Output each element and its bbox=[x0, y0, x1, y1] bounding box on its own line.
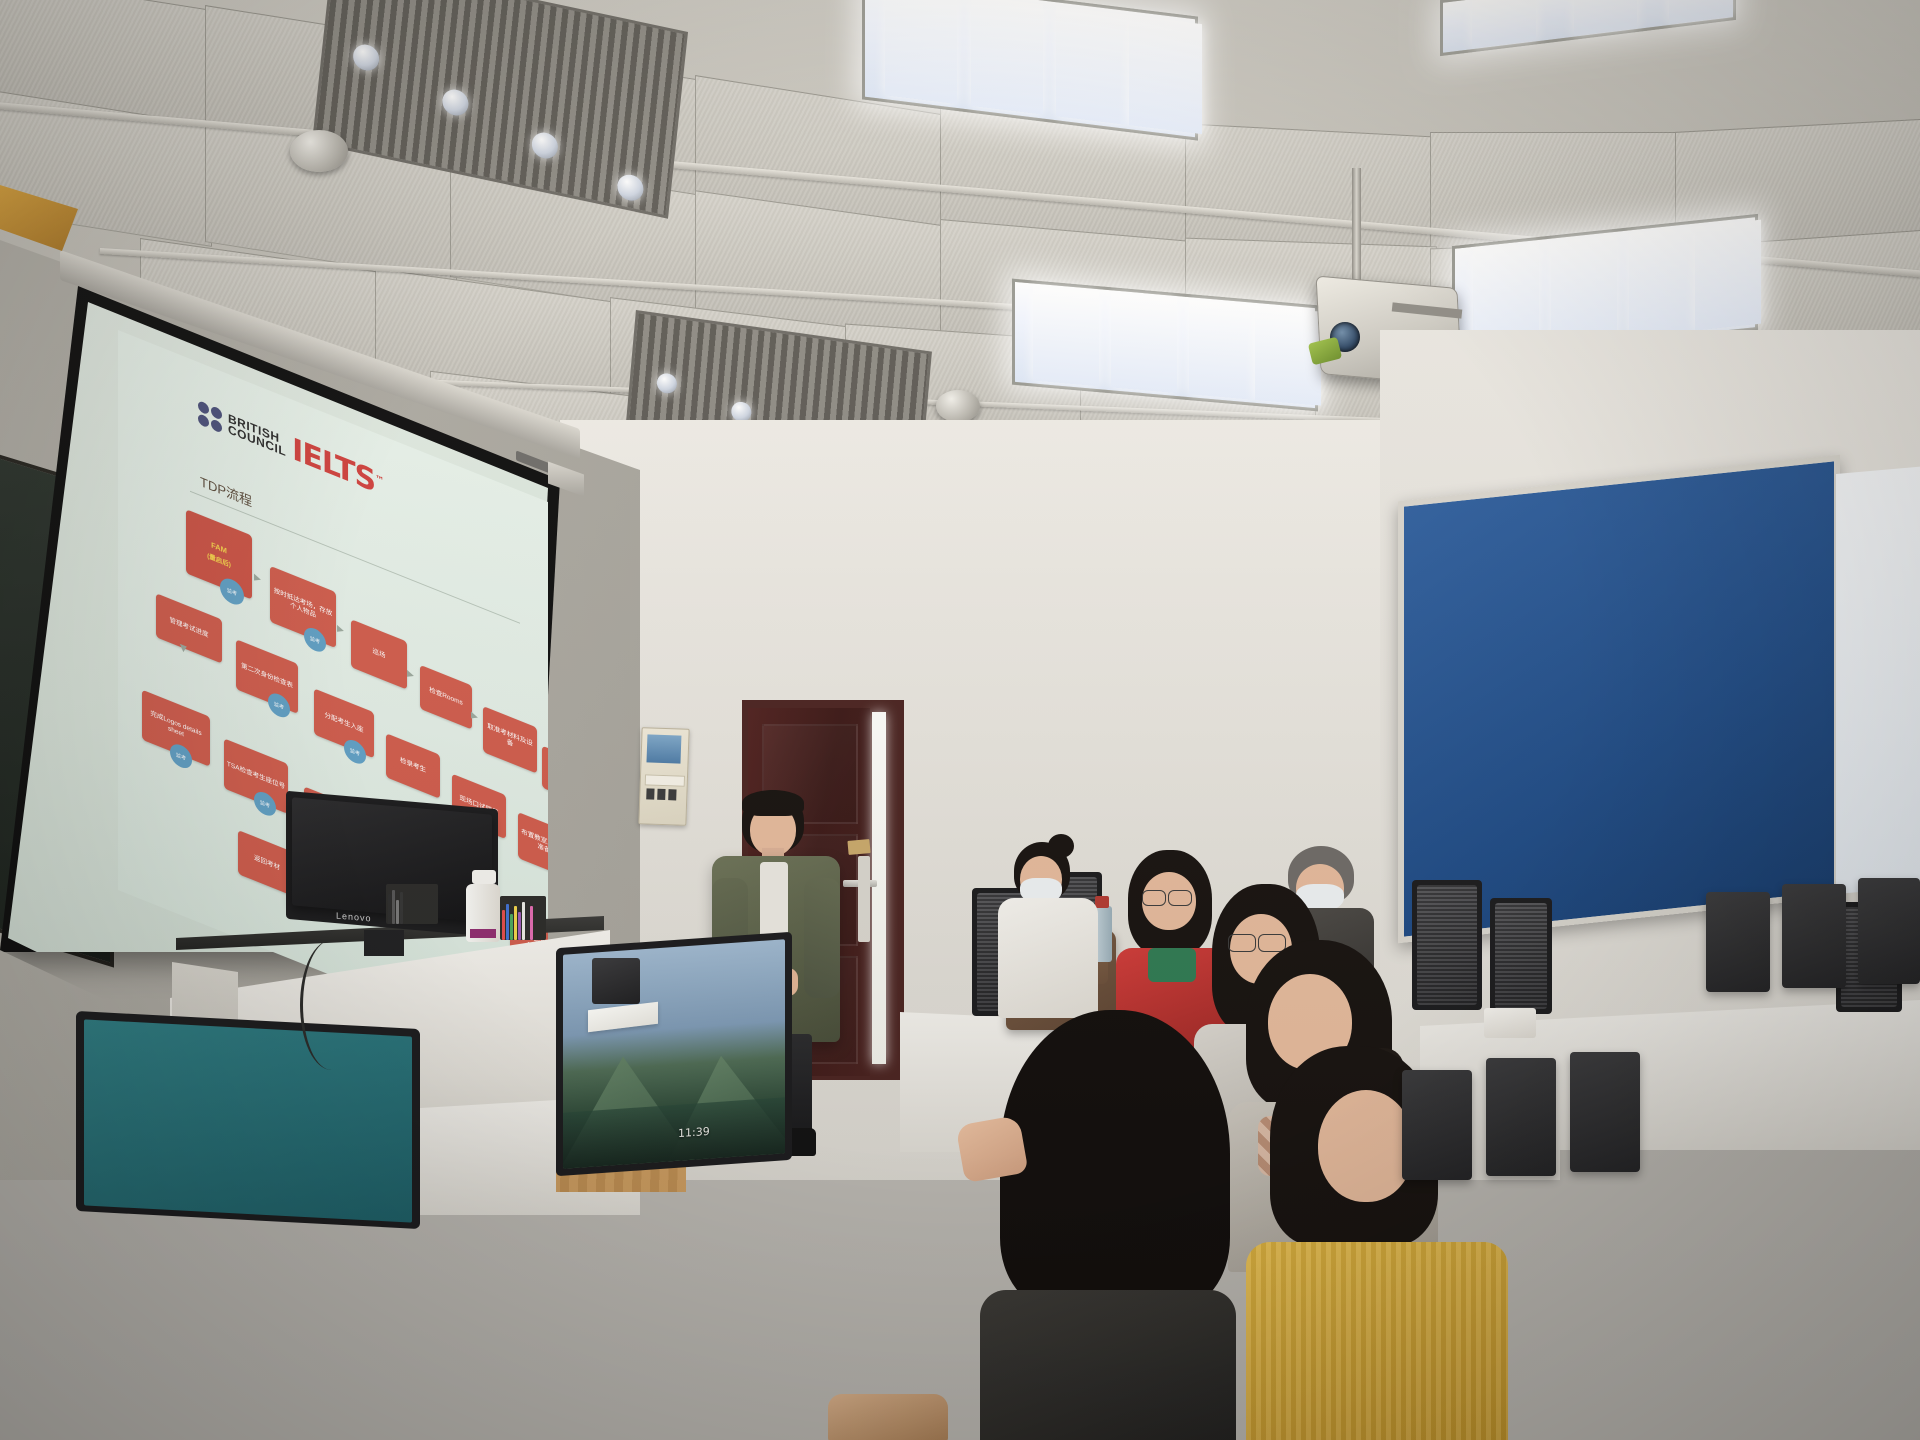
student-2-glasses bbox=[1142, 890, 1166, 906]
flow-box-r1c5: 取准考材料及设备 bbox=[483, 706, 537, 774]
student-6-face bbox=[1318, 1090, 1414, 1202]
flow-box-r1c1-sub: (量启后) bbox=[207, 553, 231, 571]
smoke-detector-left bbox=[290, 130, 348, 172]
student-7-body bbox=[980, 1290, 1236, 1440]
ielts-text: IELTS bbox=[292, 432, 375, 500]
presenter-hair-front bbox=[742, 790, 804, 816]
student-7 bbox=[980, 1010, 1240, 1440]
student-6 bbox=[1256, 1046, 1516, 1440]
classroom-photo-scene: BRITISH COUNCIL IELTS™ TDP流程 FAM (量启后) 监… bbox=[0, 0, 1920, 1440]
right-window bbox=[1836, 466, 1920, 894]
center-monitor-clock: 11:39 bbox=[678, 1125, 710, 1140]
chair-6 bbox=[1858, 878, 1920, 984]
flow-box-r1c6: 分发考卷 bbox=[542, 746, 548, 808]
foreground-object bbox=[828, 1394, 948, 1440]
panel-display bbox=[646, 734, 681, 763]
desk-small-item bbox=[1484, 1008, 1536, 1038]
student-6-knit-texture bbox=[1246, 1242, 1508, 1440]
foreground-hand bbox=[955, 1115, 1028, 1183]
flow-box-r1c4: 检查Rooms bbox=[420, 665, 472, 730]
podium-shelf-box bbox=[592, 958, 640, 1004]
left-front-monitor bbox=[76, 1020, 426, 1220]
podium-monitor-stand bbox=[364, 930, 404, 956]
chair-2 bbox=[1486, 1058, 1556, 1176]
flow-arrow-r1-3: ▶ bbox=[407, 669, 414, 681]
smoke-detector-middle bbox=[936, 390, 980, 422]
desk-cable bbox=[300, 940, 363, 1070]
wall-electrical-panel[interactable] bbox=[638, 727, 689, 826]
chair-3 bbox=[1570, 1052, 1640, 1172]
flow-box-r2c4: 检录考生 bbox=[386, 733, 440, 799]
flow-box-r2c6: 布置教室及考前准备 bbox=[518, 812, 548, 879]
student-1-body bbox=[998, 898, 1098, 1018]
pen-holder bbox=[500, 896, 546, 940]
flow-arrow-r1-2: ▶ bbox=[337, 624, 344, 636]
flow-arrow-r1-1: ▶ bbox=[254, 572, 261, 584]
student-7-hair bbox=[1000, 1010, 1230, 1310]
panel-switch-1[interactable] bbox=[646, 788, 654, 799]
ielts-wordmark: IELTS™ bbox=[292, 432, 383, 503]
pen-holder-secondary bbox=[386, 884, 438, 924]
hand-sanitizer-bottle bbox=[466, 884, 500, 942]
student-1 bbox=[1000, 840, 1110, 1030]
student-1-bun bbox=[1048, 834, 1074, 858]
ielts-tm: ™ bbox=[375, 474, 383, 487]
presenter-arm-right bbox=[804, 878, 840, 998]
chair-4 bbox=[1706, 892, 1770, 992]
flow-arrow-r1-4: ▶ bbox=[471, 710, 478, 722]
student-monitor-4-screen bbox=[1495, 903, 1547, 1009]
right-wall-blue-board bbox=[1398, 455, 1840, 943]
student-2-collar bbox=[1148, 948, 1196, 982]
panel-breaker-bar bbox=[645, 774, 685, 786]
flow-box-r1c2: 按时抵达考场，存放个人物品 bbox=[270, 566, 336, 648]
panel-switch-3[interactable] bbox=[668, 789, 676, 800]
student-2-glasses-right bbox=[1168, 890, 1192, 906]
flow-box-r1c3: 巡场 bbox=[351, 619, 407, 689]
flow-box-r1c1: FAM (量启后) bbox=[186, 509, 252, 599]
flow-box-r2c2: 第二次身份检查表 bbox=[236, 639, 298, 714]
chair-1 bbox=[1402, 1070, 1472, 1180]
chair-5 bbox=[1782, 884, 1846, 988]
door-light-gap bbox=[872, 712, 886, 1064]
british-council-dots-icon bbox=[198, 400, 222, 434]
sanitizer-pump bbox=[472, 870, 496, 884]
flow-box-r2c1: 管理考试进度 bbox=[156, 593, 222, 663]
left-front-monitor-screen bbox=[84, 1019, 412, 1222]
panel-switch-2[interactable] bbox=[657, 789, 665, 800]
sanitizer-label bbox=[470, 929, 496, 938]
flow-box-r1c1-label: FAM bbox=[211, 540, 227, 556]
